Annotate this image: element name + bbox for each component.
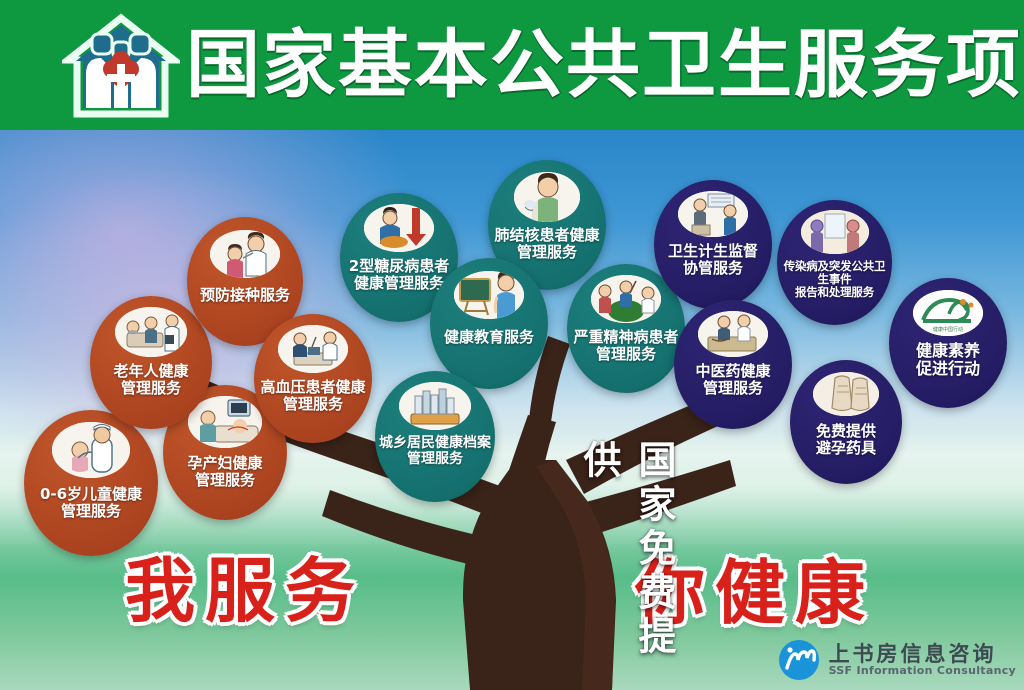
blackboard-teacher-icon — [454, 271, 524, 319]
coughing-patient-icon — [514, 172, 580, 222]
tcm-consultation-icon — [698, 311, 768, 357]
bubble-label: 肺结核患者健康 管理服务 — [490, 227, 603, 261]
bubble-label: 严重精神病患者 管理服务 — [569, 329, 682, 363]
bubble-infectious-disease[interactable]: 传染病及突发公共卫生事件 报告和处理服务 — [777, 200, 892, 325]
bubble-label: 老年人健康 管理服务 — [109, 363, 192, 397]
bubble-free-contraceptives[interactable]: 免费提供 避孕药具 — [790, 360, 902, 484]
slogan-left: 我服务 — [125, 535, 365, 636]
svg-text:健康中国行动: 健康中国行动 — [933, 326, 963, 333]
bubble-label: 中医药健康 管理服务 — [691, 363, 774, 397]
bubble-label: 2型糖尿病患者 健康管理服务 — [345, 258, 453, 292]
slogan-vertical: 国家免费提供 — [572, 440, 682, 690]
bubble-label: 健康素养 促进行动 — [912, 342, 984, 378]
im-circle-logo — [777, 638, 821, 682]
house-family-cross-logo — [62, 12, 180, 120]
bubble-label: 卫生计生监督 协管服务 — [664, 243, 762, 277]
watermark: 上书房信息咨询 SSF Information Consultancy — [777, 638, 1016, 682]
bubble-tcm-health[interactable]: 中医药健康 管理服务 — [674, 300, 792, 429]
bubble-health-education[interactable]: 健康教育服务 — [430, 258, 548, 389]
bubble-label: 传染病及突发公共卫生事件 报告和处理服务 — [777, 260, 892, 299]
watermark-text: 上书房信息咨询 SSF Information Consultancy — [829, 643, 1016, 677]
bubble-health-literacy[interactable]: 健康中国行动 健康素养 促进行动 — [889, 278, 1007, 408]
ultrasound-exam-icon — [188, 396, 262, 448]
bubble-resident-health-record[interactable]: 城乡居民健康档案 管理服务 — [375, 371, 495, 502]
bubble-elderly-health[interactable]: 老年人健康 管理服务 — [90, 296, 212, 429]
contraceptive-devices-icon — [813, 372, 879, 416]
disease-reporting-icon — [801, 210, 869, 254]
mental-health-group-icon — [591, 275, 661, 323]
elderly-checkup-icon — [115, 307, 187, 357]
inspection-officer-icon — [678, 191, 748, 237]
bubble-hypertension[interactable]: 高血压患者健康 管理服务 — [254, 314, 372, 443]
bubble-label: 健康教育服务 — [440, 329, 538, 346]
bubble-label: 高血压患者健康 管理服务 — [256, 379, 369, 413]
bubble-label: 免费提供 避孕药具 — [812, 423, 880, 457]
poster-header: 国家基本公共卫生服务项目 — [0, 0, 1024, 130]
page-title: 国家基本公共卫生服务项目 — [186, 22, 1024, 108]
health-literacy-logo-icon: 健康中国行动 — [913, 290, 983, 336]
bubble-label: 孕产妇健康 管理服务 — [183, 455, 266, 489]
watermark-cn: 上书房信息咨询 — [829, 643, 1016, 665]
nurse-holding-baby-icon — [52, 422, 130, 478]
bubble-label: 预防接种服务 — [196, 287, 294, 304]
bubble-health-supervision[interactable]: 卫生计生监督 协管服务 — [654, 180, 772, 309]
vaccination-child-icon — [210, 230, 280, 278]
record-files-icon — [399, 382, 471, 430]
watermark-en: SSF Information Consultancy — [829, 665, 1016, 677]
bubble-label: 0-6岁儿童健康 管理服务 — [36, 486, 146, 520]
poster-root: 国家基本公共卫生服务项目 — [0, 0, 1024, 690]
bubble-label: 城乡居民健康档案 管理服务 — [375, 436, 495, 467]
diabetes-patient-icon — [364, 204, 434, 252]
blood-pressure-icon — [278, 325, 348, 373]
